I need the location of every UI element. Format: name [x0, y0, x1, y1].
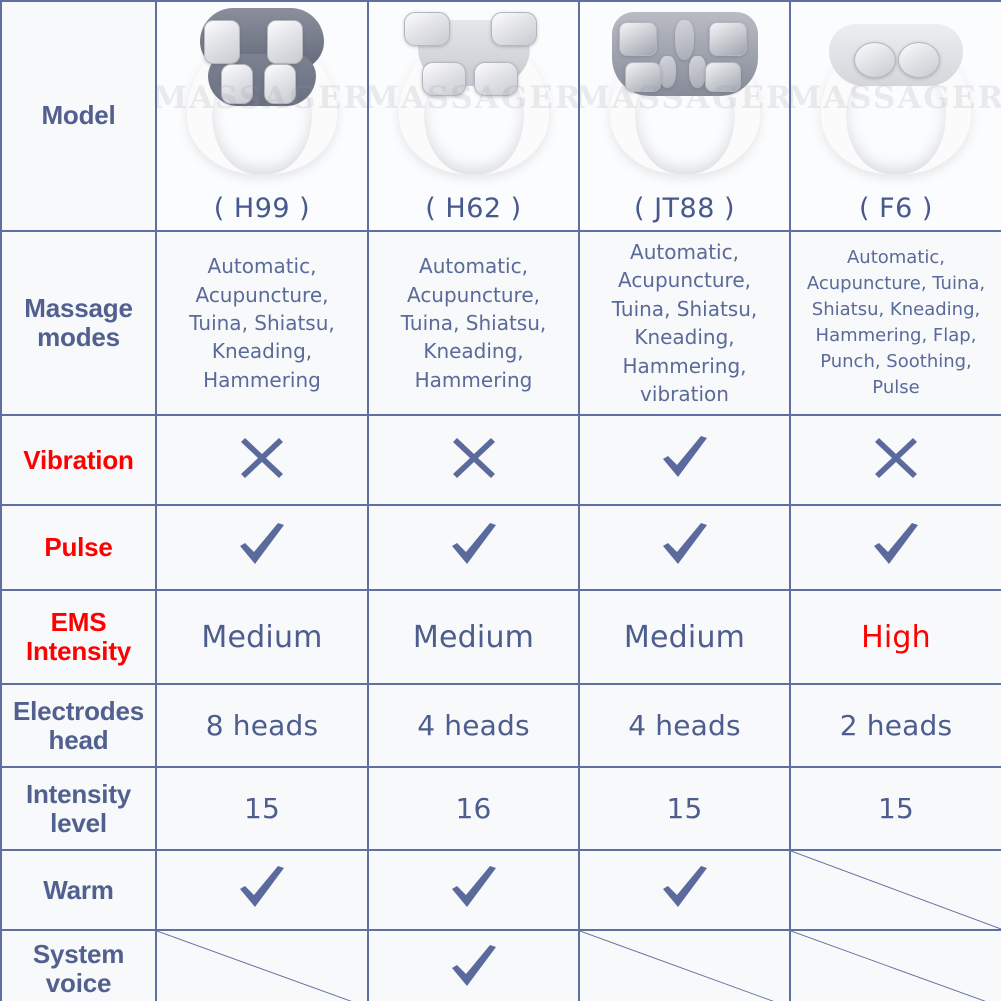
check-icon: [868, 519, 924, 571]
cell-ems-h62: Medium: [368, 590, 579, 684]
table-row-pulse: Pulse: [1, 505, 1001, 590]
row-label-intensity-level: Intensitylevel: [1, 767, 156, 850]
row-label-pulse: Pulse: [1, 505, 156, 590]
cell-electrodes-h62: 4 heads: [368, 684, 579, 767]
electrode-pad: [898, 42, 940, 78]
top-band: [829, 24, 963, 86]
cell-electrodes-f6: 2 heads: [790, 684, 1001, 767]
massage-node: [689, 56, 706, 88]
row-label-text: Electrodeshead: [2, 697, 155, 755]
electrode-pad: [204, 20, 240, 64]
electrode-pad: [705, 62, 741, 92]
electrode-pad: [619, 22, 657, 56]
check-icon: [657, 432, 713, 484]
electrode-pad: [404, 12, 450, 46]
device-illustration-h99: [174, 6, 350, 186]
row-label-vibration: Vibration: [1, 415, 156, 505]
product-cell-jt88: MASSAGER ( JT88 ): [579, 1, 790, 231]
cross-icon: [872, 434, 920, 482]
model-name-h99: ( H99 ): [157, 193, 367, 224]
product-image-h99: MASSAGER ( H99 ): [157, 2, 367, 230]
model-name-jt88: ( JT88 ): [580, 193, 789, 224]
electrode-pad: [267, 20, 303, 64]
electrode-pad: [474, 62, 518, 96]
row-label-text: Pulse: [2, 533, 155, 562]
electrode-pad: [221, 64, 253, 104]
row-label-text: EMSIntensity: [2, 608, 155, 666]
cell-intensity-f6: 15: [790, 767, 1001, 850]
electrode-pad: [422, 62, 466, 96]
cell-value: Medium: [201, 620, 322, 655]
cell-electrodes-h99: 8 heads: [156, 684, 368, 767]
cell-vibration-h62: [368, 415, 579, 505]
row-label-text: Warm: [2, 876, 155, 905]
check-icon: [657, 862, 713, 914]
row-label-text: Model: [2, 101, 155, 130]
table-row-intensity-level: Intensitylevel 15 16 15 15: [1, 767, 1001, 850]
cell-warm-jt88: [579, 850, 790, 930]
diagonal-slash: [580, 931, 789, 1001]
cell-ems-jt88: Medium: [579, 590, 790, 684]
cell-pulse-h62: [368, 505, 579, 590]
cell-value: Automatic, Acupuncture, Tuina, Shiatsu, …: [369, 246, 578, 400]
table-row-ems-intensity: EMSIntensity Medium Medium Medium High: [1, 590, 1001, 684]
cell-ems-f6: High: [790, 590, 1001, 684]
device-illustration-f6: [808, 6, 984, 186]
row-label-text: Systemvoice: [2, 940, 155, 998]
electrode-pad: [491, 12, 537, 46]
electrode-pad: [854, 42, 896, 78]
electrode-pad: [264, 64, 296, 104]
cell-pulse-jt88: [579, 505, 790, 590]
cell-ems-h99: Medium: [156, 590, 368, 684]
check-icon: [234, 519, 290, 571]
cell-value: Automatic, Acupuncture, Tuina, Shiatsu, …: [580, 232, 789, 414]
row-label-system-voice: Systemvoice: [1, 930, 156, 1001]
device-illustration-jt88: [597, 6, 773, 186]
diagonal-slash: [791, 931, 1001, 1001]
product-cell-h99: MASSAGER ( H99 ): [156, 1, 368, 231]
cell-electrodes-jt88: 4 heads: [579, 684, 790, 767]
cell-value: 4 heads: [417, 709, 530, 742]
cell-massage-modes-jt88: Automatic, Acupuncture, Tuina, Shiatsu, …: [579, 231, 790, 415]
electrode-pad: [625, 62, 661, 92]
cell-intensity-h62: 16: [368, 767, 579, 850]
cell-vibration-jt88: [579, 415, 790, 505]
product-image-f6: MASSAGER ( F6 ): [791, 2, 1001, 230]
cell-value: Medium: [413, 620, 534, 655]
model-name-h62: ( H62 ): [369, 193, 578, 224]
cross-icon: [238, 434, 286, 482]
cell-massage-modes-h62: Automatic, Acupuncture, Tuina, Shiatsu, …: [368, 231, 579, 415]
row-label-electrodes-head: Electrodeshead: [1, 684, 156, 767]
cell-warm-h99: [156, 850, 368, 930]
cell-value: Medium: [624, 620, 745, 655]
row-label-model: Model: [1, 1, 156, 231]
check-icon: [446, 941, 502, 993]
electrode-pad: [709, 22, 747, 56]
cross-icon: [450, 434, 498, 482]
cell-system-voice-f6: [790, 930, 1001, 1001]
cell-value: 15: [244, 792, 280, 825]
cell-system-voice-h99: [156, 930, 368, 1001]
cell-warm-h62: [368, 850, 579, 930]
row-label-warm: Warm: [1, 850, 156, 930]
product-cell-f6: MASSAGER ( F6 ): [790, 1, 1001, 231]
product-cell-h62: MASSAGER ( H62 ): [368, 1, 579, 231]
cell-vibration-f6: [790, 415, 1001, 505]
table-row-system-voice: Systemvoice: [1, 930, 1001, 1001]
check-icon: [234, 862, 290, 914]
row-label-text: Massagemodes: [2, 294, 155, 352]
cell-system-voice-jt88: [579, 930, 790, 1001]
cell-massage-modes-f6: Automatic, Acupuncture, Tuina, Shiatsu, …: [790, 231, 1001, 415]
cell-value: 4 heads: [628, 709, 741, 742]
cell-value: Automatic, Acupuncture, Tuina, Shiatsu, …: [157, 246, 367, 400]
diagonal-slash: [791, 851, 1001, 929]
massage-node: [675, 20, 694, 60]
cell-pulse-f6: [790, 505, 1001, 590]
cell-warm-f6: [790, 850, 1001, 930]
cell-system-voice-h62: [368, 930, 579, 1001]
cell-intensity-jt88: 15: [579, 767, 790, 850]
check-icon: [657, 519, 713, 571]
check-icon: [446, 862, 502, 914]
check-icon: [446, 519, 502, 571]
product-image-h62: MASSAGER ( H62 ): [369, 2, 578, 230]
model-comparison-table: Model MASSAGER ( H99 ): [0, 0, 1001, 1001]
row-label-text: Vibration: [2, 446, 155, 475]
diagonal-slash: [157, 931, 367, 1001]
row-label-massage-modes: Massagemodes: [1, 231, 156, 415]
cell-pulse-h99: [156, 505, 368, 590]
cell-value: Automatic, Acupuncture, Tuina, Shiatsu, …: [791, 239, 1001, 406]
cell-massage-modes-h99: Automatic, Acupuncture, Tuina, Shiatsu, …: [156, 231, 368, 415]
model-name-f6: ( F6 ): [791, 193, 1001, 224]
cell-value: 16: [455, 792, 491, 825]
table-row-model: Model MASSAGER ( H99 ): [1, 1, 1001, 231]
table-row-electrodes-head: Electrodeshead 8 heads 4 heads 4 heads 2…: [1, 684, 1001, 767]
table-row-warm: Warm: [1, 850, 1001, 930]
cell-value: 8 heads: [206, 709, 319, 742]
table-row-massage-modes: Massagemodes Automatic, Acupuncture, Tui…: [1, 231, 1001, 415]
massage-node: [659, 56, 676, 88]
row-label-text: Intensitylevel: [2, 780, 155, 838]
comparison-table-page: Model MASSAGER ( H99 ): [0, 0, 1001, 1001]
table-row-vibration: Vibration: [1, 415, 1001, 505]
cell-value: High: [861, 620, 931, 655]
cell-value: 15: [878, 792, 914, 825]
product-image-jt88: MASSAGER ( JT88 ): [580, 2, 789, 230]
device-illustration-h62: [386, 6, 562, 186]
cell-value: 2 heads: [840, 709, 953, 742]
cell-value: 15: [666, 792, 702, 825]
row-label-ems-intensity: EMSIntensity: [1, 590, 156, 684]
cell-intensity-h99: 15: [156, 767, 368, 850]
cell-vibration-h99: [156, 415, 368, 505]
